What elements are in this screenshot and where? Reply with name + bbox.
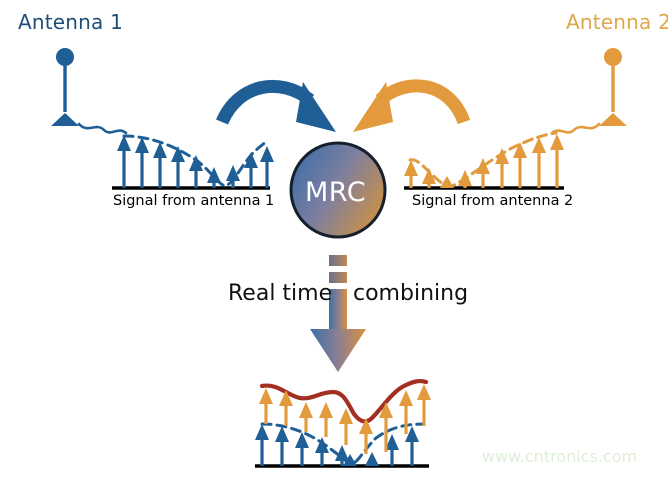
combined-orange-arrow [339,408,353,445]
combined-blue-arrow [275,426,289,466]
antenna-1-symbol [51,48,126,133]
signal-2-arrow [495,148,509,188]
down-arrow-head [310,329,366,372]
combined-orange-arrow [299,402,313,432]
signal-2-arrow [404,160,418,188]
signal-1-arrow [244,152,258,188]
antenna-2-symbol [552,48,627,133]
antenna-2-to-mrc-arrow [353,82,464,132]
real-time-combining-arrow [310,255,366,372]
combining-text: combining [353,281,468,306]
signal-1-arrow [117,135,131,188]
signal-1-arrows [117,135,274,188]
watermark-text: www.cntronics.com [482,447,637,466]
diagram-canvas: Antenna 1 Antenna 2 Signal from antenna … [0,0,668,479]
combined-blue-arrow [255,424,269,466]
signal-2-arrow [458,170,472,188]
combined-blue-arrow [315,437,329,466]
signal-2-arrow [550,134,564,188]
combined-orange-arrow [259,388,273,424]
combined-blue-arrows [255,424,419,466]
real-time-text: Real time [228,281,332,306]
signal-2-arrow [513,142,527,188]
antenna-1-label: Antenna 1 [18,10,123,34]
down-arrow-dash-1 [329,255,347,266]
signal-1-arrow [135,137,149,188]
combined-orange-arrow [319,402,333,437]
signal-1-arrow [260,146,274,188]
combined-orange-arrows [259,384,431,454]
combined-orange-arrow [359,418,373,454]
mrc-node-label: MRC [305,177,366,208]
signal-2-caption: Signal from antenna 2 [412,193,573,209]
diagram-vector-layer [0,0,668,479]
combined-orange-arrow [417,384,431,426]
antenna-1-to-mrc-arrow [222,82,336,132]
signal-1-caption: Signal from antenna 1 [113,193,274,209]
combined-blue-arrow [365,452,379,466]
combined-blue-arrow [295,432,309,466]
signal-2-arrows [404,134,564,188]
signal-2-arrow [532,137,546,188]
antenna-2-label: Antenna 2 [566,10,668,34]
signal-1-arrow [189,155,203,188]
signal-1-arrow [153,142,167,188]
